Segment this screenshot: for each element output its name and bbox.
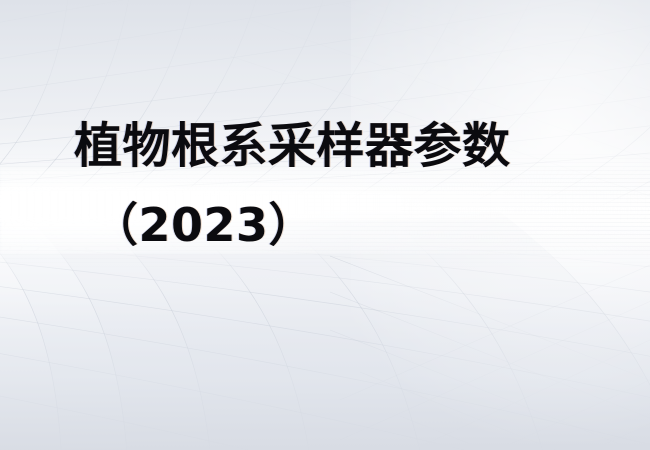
cover-slide: 植物根系采样器参数 （2023）	[0, 0, 650, 450]
background-artwork	[0, 0, 650, 450]
background-mesh-svg	[0, 0, 650, 450]
